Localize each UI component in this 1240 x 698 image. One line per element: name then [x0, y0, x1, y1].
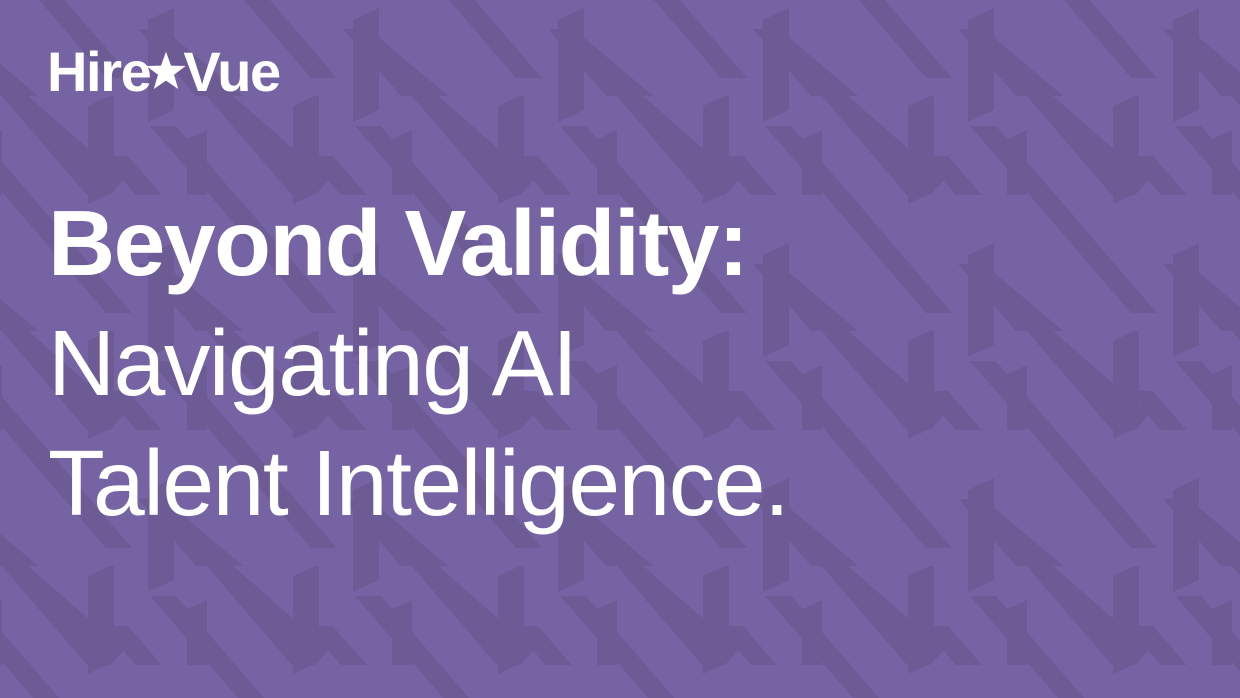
- headline-line-2: Navigating AI: [48, 303, 788, 423]
- title-slide: Hire Vue Beyond Validity: Navigating AI …: [0, 0, 1240, 698]
- logo-word-hire: Hire: [47, 44, 150, 100]
- hirevue-logo[interactable]: Hire Vue: [47, 44, 280, 100]
- logo-word-vue: Vue: [183, 44, 279, 100]
- headline-line-1: Beyond Validity:: [48, 183, 788, 303]
- headline-line-3: Talent Intelligence.: [48, 423, 788, 543]
- star-icon: [146, 51, 186, 91]
- page-title: Beyond Validity: Navigating AI Talent In…: [48, 183, 788, 543]
